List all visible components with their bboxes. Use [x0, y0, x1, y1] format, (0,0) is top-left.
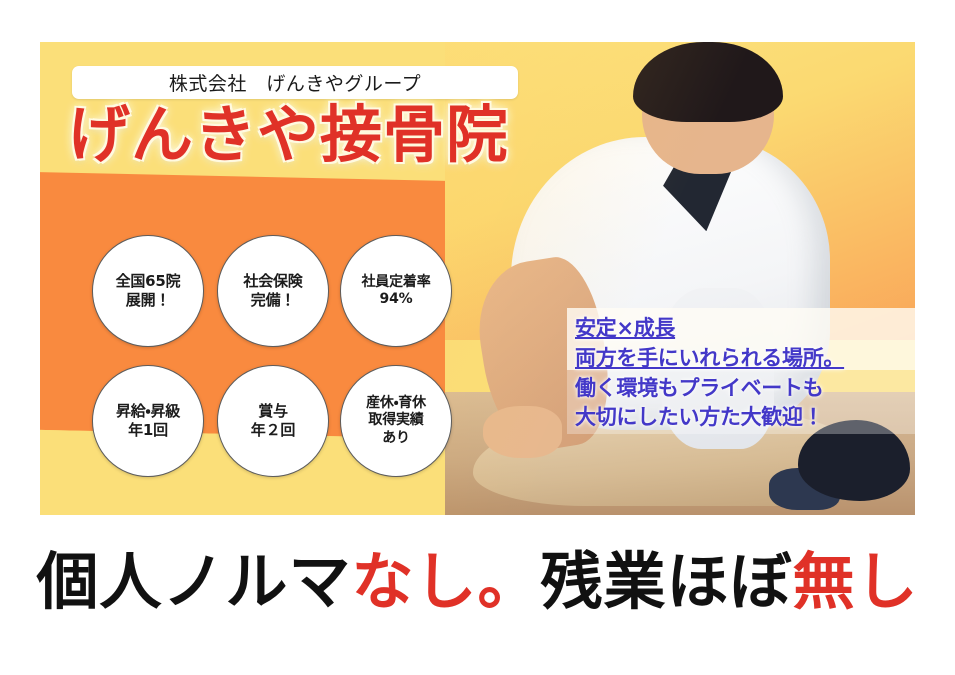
- company-name-text: 株式会社 げんきやグループ: [169, 69, 421, 96]
- headline-part-2: なし。: [351, 551, 540, 613]
- badge-label: 社会保険 完備！: [243, 272, 302, 310]
- headline-part-3: 残業ほぼ: [541, 551, 793, 613]
- badge-label: 賞与 年２回: [251, 402, 295, 440]
- badge-social-insurance: 社会保険 完備！: [217, 235, 329, 347]
- badge-label: 社員定着率 94%: [362, 274, 431, 309]
- message-line-2: 両方を手にいれられる場所。: [575, 344, 915, 374]
- photo-light-overlay: [445, 42, 915, 515]
- badge-national-clinics: 全国65院 展開！: [92, 235, 204, 347]
- poster-card: 株式会社 げんきやグループ げんきや接骨院 全国65院 展開！ 社会保険 完備！…: [40, 42, 915, 515]
- message-block: 安定×成長 両方を手にいれられる場所。 働く環境もプライベートも 大切にしたい方…: [575, 314, 915, 433]
- poster-title: げんきや接骨院: [68, 104, 509, 166]
- badge-label: 産休・育休 取得実績 あり: [366, 395, 426, 448]
- message-line-4: 大切にしたい方た大歓迎！: [575, 403, 915, 433]
- therapist-photo: [445, 42, 915, 515]
- badge-bonus: 賞与 年２回: [217, 365, 329, 477]
- bottom-headline: 個人ノルマなし。残業ほぼ無し: [0, 536, 955, 628]
- badge-raise-promotion: 昇給・昇級 年1回: [92, 365, 204, 477]
- badge-label: 全国65院 展開！: [116, 272, 181, 310]
- company-name-bar: 株式会社 げんきやグループ: [72, 66, 518, 99]
- badge-parental-leave: 産休・育休 取得実績 あり: [340, 365, 452, 477]
- badge-retention-rate: 社員定着率 94%: [340, 235, 452, 347]
- headline-part-4: 無し: [793, 551, 919, 613]
- message-line-1: 安定×成長: [575, 314, 915, 344]
- message-line-3: 働く環境もプライベートも: [575, 374, 915, 404]
- badge-label: 昇給・昇級 年1回: [116, 402, 180, 440]
- headline-part-1: 個人ノルマ: [36, 551, 351, 613]
